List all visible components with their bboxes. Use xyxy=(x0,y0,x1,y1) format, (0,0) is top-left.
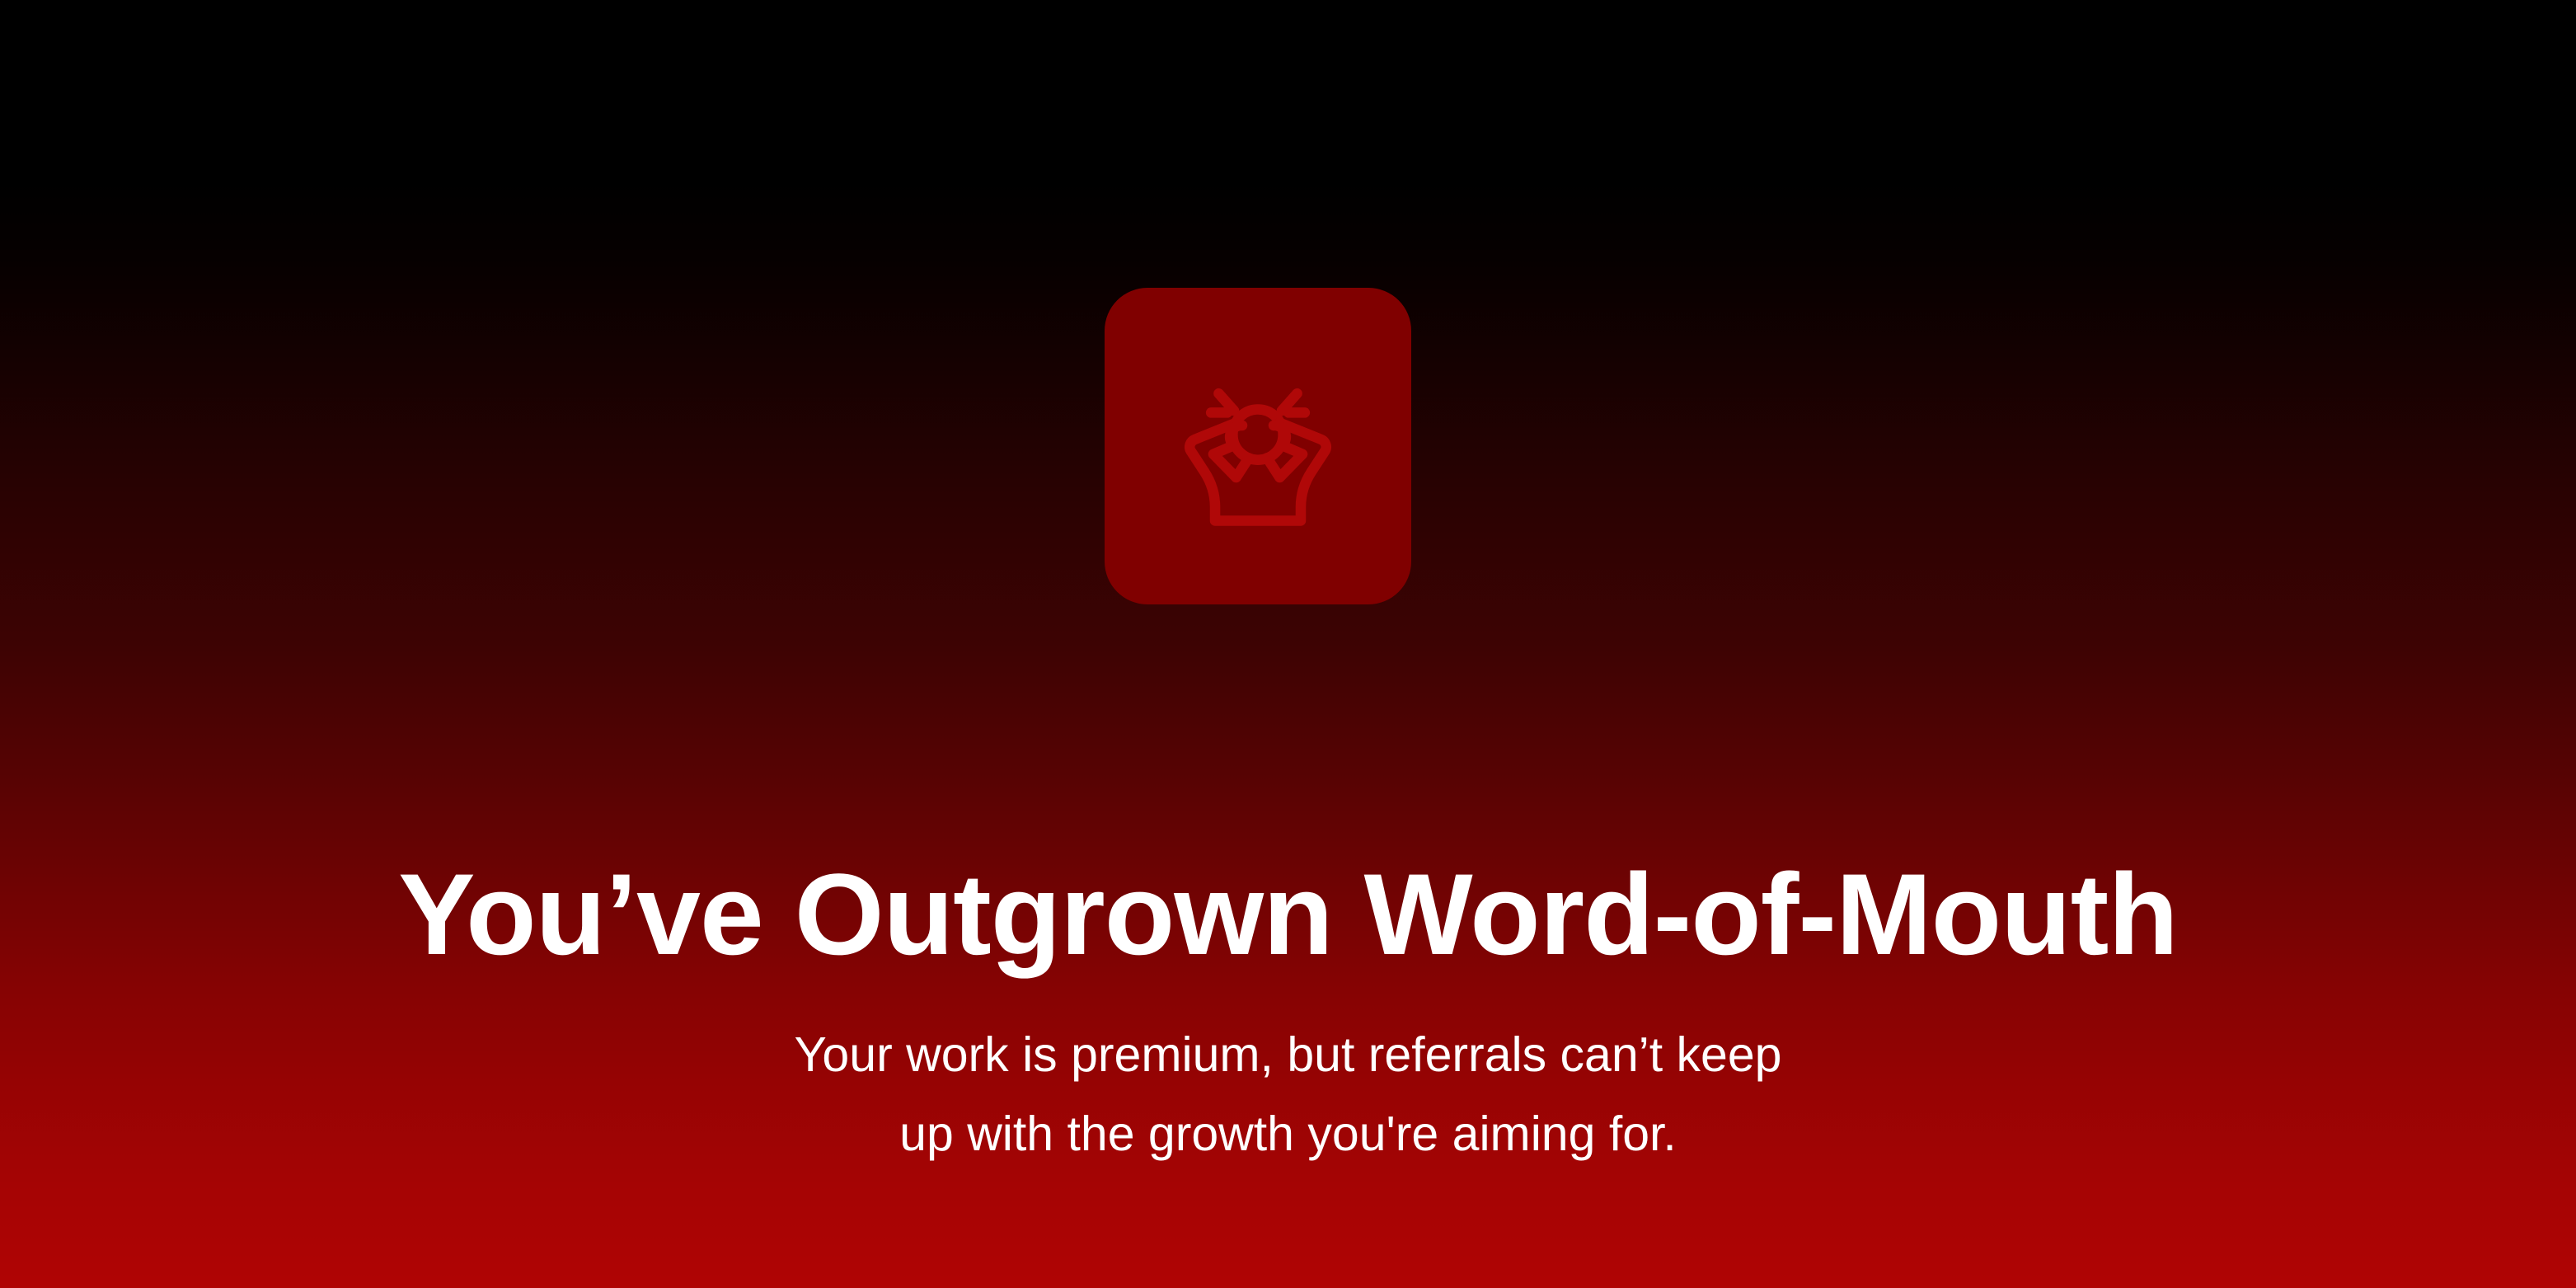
subtitle-line-1: Your work is premium, but referrals can’… xyxy=(0,1015,2576,1094)
hero-content: You’ve Outgrown Word-of-Mouth Your work … xyxy=(0,0,2576,1288)
hero-section: You’ve Outgrown Word-of-Mouth Your work … xyxy=(0,0,2576,1288)
icon-tile xyxy=(1105,288,1411,604)
subtitle-line-2: up with the growth you're aiming for. xyxy=(0,1094,2576,1173)
subtitle: Your work is premium, but referrals can’… xyxy=(0,1015,2576,1173)
overwhelmed-person-icon xyxy=(1162,350,1354,542)
page-title: You’ve Outgrown Word-of-Mouth xyxy=(0,851,2576,978)
